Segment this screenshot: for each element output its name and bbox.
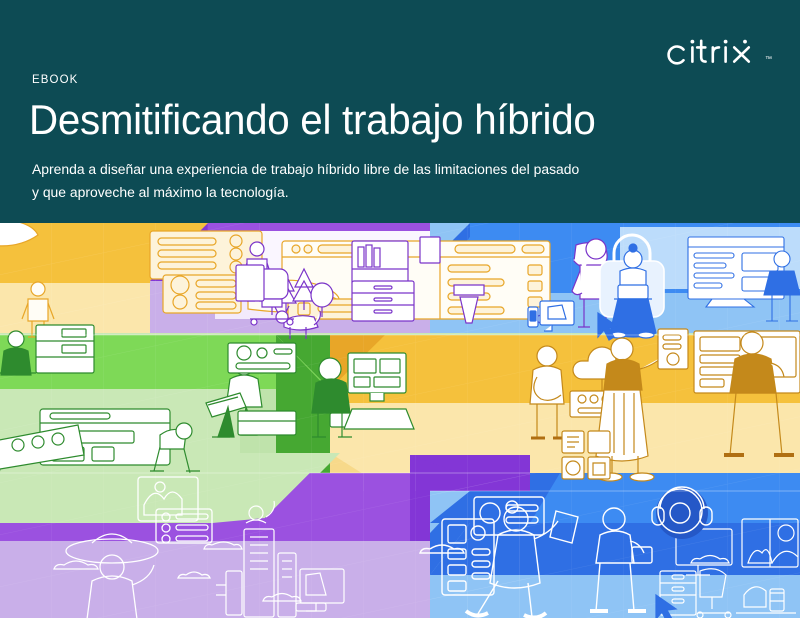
trademark-symbol: ™ — [765, 56, 772, 63]
citrix-logo: ™ — [667, 36, 772, 70]
citrix-wordmark-icon — [667, 36, 763, 70]
ebook-cover: ™ EBOOK Desmitificando el trabajo híbrid… — [0, 0, 800, 618]
page-title: Desmitificando el trabajo híbrido — [29, 94, 595, 146]
cover-header: ™ EBOOK Desmitificando el trabajo híbrid… — [0, 0, 800, 223]
scene-dashboard-windows — [150, 231, 550, 319]
illustration-artwork — [0, 223, 800, 618]
i-dot-icon — [691, 40, 695, 44]
x-dot-icon — [743, 40, 747, 44]
eyebrow-label: EBOOK — [32, 74, 78, 86]
page-subtitle: Aprenda a diseñar una experiencia de tra… — [32, 159, 581, 205]
i-dot-icon — [724, 40, 728, 44]
cover-illustration — [0, 223, 800, 618]
